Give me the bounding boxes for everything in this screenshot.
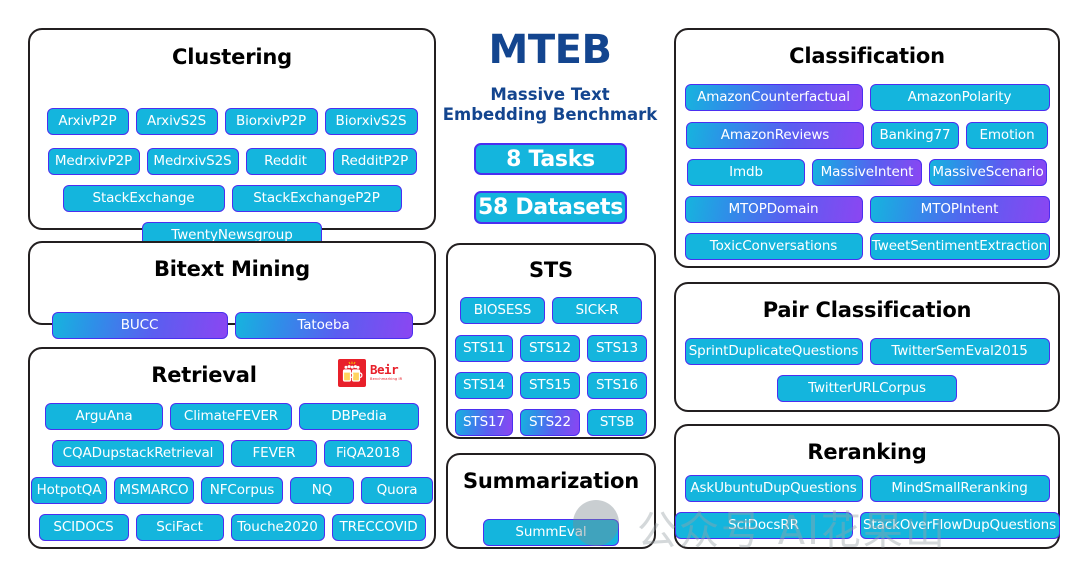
dataset-tile-label: BIOSESS bbox=[474, 304, 531, 318]
dataset-tile-label: Banking77 bbox=[879, 129, 950, 143]
dataset-tile[interactable]: Touche2020 bbox=[231, 514, 325, 541]
panel-reranking: Reranking AskUbuntuDupQuestionsMindSmall… bbox=[674, 424, 1060, 549]
dataset-tile-label: STS12 bbox=[529, 342, 571, 356]
dataset-tile[interactable]: BUCC bbox=[52, 312, 228, 339]
tile-row: STS17STS22STSB bbox=[448, 409, 654, 436]
dataset-tile[interactable]: MSMARCO bbox=[114, 477, 194, 504]
dataset-tile[interactable]: StackExchange bbox=[63, 185, 225, 212]
dataset-tile[interactable]: BiorxivP2P bbox=[225, 108, 318, 135]
tile-row: STS14STS15STS16 bbox=[448, 372, 654, 399]
dataset-tile[interactable]: SICK-R bbox=[552, 297, 642, 324]
tile-row: StackExchangeStackExchangeP2P bbox=[30, 185, 434, 212]
dataset-tile-label: NFCorpus bbox=[210, 484, 274, 498]
dataset-tile-label: ArxivP2P bbox=[58, 115, 116, 129]
dataset-tile[interactable]: AskUbuntuDupQuestions bbox=[685, 475, 863, 502]
tile-row: SummEval bbox=[448, 519, 654, 546]
beir-tagline: Benchmarking IR bbox=[370, 378, 402, 382]
dataset-tile-label: TwitterSemEval2015 bbox=[891, 345, 1027, 359]
dataset-tile-label: DBPedia bbox=[331, 410, 387, 424]
dataset-tile-label: STS11 bbox=[463, 342, 505, 356]
tile-row: BIOSESSSICK-R bbox=[448, 297, 654, 324]
dataset-tile[interactable]: STS12 bbox=[520, 335, 580, 362]
dataset-tile-label: STS22 bbox=[529, 416, 571, 430]
dataset-tile-label: ToxicConversations bbox=[710, 240, 837, 254]
dataset-tile-label: Quora bbox=[377, 484, 418, 498]
dataset-tile[interactable]: MindSmallReranking bbox=[870, 475, 1050, 502]
dataset-tile[interactable]: Reddit bbox=[246, 148, 326, 175]
dataset-tile-label: STS16 bbox=[596, 379, 638, 393]
dataset-tile[interactable]: Imdb bbox=[687, 159, 805, 186]
dataset-tile[interactable]: STSB bbox=[587, 409, 647, 436]
panel-title-reranking: Reranking bbox=[676, 442, 1058, 463]
panel-pair-classification: Pair Classification SprintDuplicateQuest… bbox=[674, 282, 1060, 412]
panel-title-sts: STS bbox=[448, 260, 654, 281]
dataset-tile-label: STS17 bbox=[463, 416, 505, 430]
dataset-tile-label: AmazonReviews bbox=[721, 129, 829, 143]
dataset-tile[interactable]: SummEval bbox=[483, 519, 619, 546]
dataset-tile-label: StackExchangeP2P bbox=[253, 192, 380, 206]
dataset-tile[interactable]: STS22 bbox=[520, 409, 580, 436]
dataset-tile-label: Imdb bbox=[729, 166, 763, 180]
dataset-tile-label: AmazonCounterfactual bbox=[697, 91, 850, 105]
dataset-tile-label: StackExchange bbox=[92, 192, 194, 206]
dataset-tile-label: FEVER bbox=[253, 447, 296, 461]
dataset-tile[interactable]: SciFact bbox=[136, 514, 224, 541]
panel-sts: STS BIOSESSSICK-RSTS11STS12STS13STS14STS… bbox=[446, 243, 656, 439]
dataset-tile[interactable]: FiQA2018 bbox=[324, 440, 412, 467]
dataset-tile-label: MedrxivS2S bbox=[153, 155, 231, 169]
dataset-tile[interactable]: TweetSentimentExtraction bbox=[870, 233, 1050, 260]
dataset-tile[interactable]: STS14 bbox=[455, 372, 513, 399]
panel-bitext-mining: Bitext Mining BUCCTatoeba bbox=[28, 241, 436, 325]
dataset-tile-label: TweetSentimentExtraction bbox=[872, 240, 1047, 254]
dataset-tile-label: BiorxivS2S bbox=[336, 115, 407, 129]
dataset-tile-label: STS15 bbox=[529, 379, 571, 393]
dataset-tile[interactable]: ArguAna bbox=[45, 403, 163, 430]
dataset-tile-label: MTOPIntent bbox=[921, 203, 999, 217]
dataset-tile[interactable]: NQ bbox=[290, 477, 354, 504]
dataset-tile[interactable]: Banking77 bbox=[871, 122, 959, 149]
dataset-tile-label: Touche2020 bbox=[237, 521, 317, 535]
dataset-tile[interactable]: RedditP2P bbox=[333, 148, 417, 175]
dataset-tile[interactable]: STS17 bbox=[455, 409, 513, 436]
page-subtitle-line2: Embedding Benchmark bbox=[435, 105, 665, 126]
dataset-tile[interactable]: MassiveIntent bbox=[812, 159, 922, 186]
dataset-tile[interactable]: MTOPDomain bbox=[685, 196, 863, 223]
dataset-tile[interactable]: AmazonCounterfactual bbox=[685, 84, 863, 111]
dataset-tile-label: SciDocsRR bbox=[728, 519, 799, 533]
tile-row: ToxicConversationsTweetSentimentExtracti… bbox=[676, 233, 1058, 260]
panel-title-summarization: Summarization bbox=[448, 471, 654, 492]
dataset-tile[interactable]: NFCorpus bbox=[201, 477, 283, 504]
dataset-tile-label: Reddit bbox=[264, 155, 307, 169]
dataset-tile[interactable]: ToxicConversations bbox=[685, 233, 863, 260]
dataset-tile-label: TwitterURLCorpus bbox=[808, 382, 926, 396]
dataset-tile[interactable]: MedrxivS2S bbox=[147, 148, 239, 175]
dataset-tile[interactable]: ArxivP2P bbox=[47, 108, 129, 135]
tile-row: SciDocsRRStackOverFlowDupQuestions bbox=[676, 512, 1058, 539]
panel-retrieval: Retrieval bbox=[28, 347, 436, 549]
dataset-tile[interactable]: AmazonReviews bbox=[686, 122, 864, 149]
dataset-tile[interactable]: StackOverFlowDupQuestions bbox=[860, 512, 1060, 539]
page-subtitle-line1: Massive Text bbox=[435, 85, 665, 106]
dataset-tile-label: RedditP2P bbox=[341, 155, 408, 169]
tile-row: MedrxivP2PMedrxivS2SRedditRedditP2P bbox=[30, 148, 434, 175]
tile-row: STS11STS12STS13 bbox=[448, 335, 654, 362]
dataset-tile[interactable]: TwitterSemEval2015 bbox=[870, 338, 1050, 365]
dataset-tile-label: MSMARCO bbox=[119, 484, 188, 498]
panel-summarization: Summarization SummEval bbox=[446, 453, 656, 549]
tile-row: ImdbMassiveIntentMassiveScenario bbox=[676, 159, 1058, 186]
panel-title-classification: Classification bbox=[676, 46, 1058, 67]
dataset-tile-label: MTOPDomain bbox=[728, 203, 818, 217]
panel-classification: Classification AmazonCounterfactualAmazo… bbox=[674, 28, 1060, 268]
beir-name: Beir bbox=[370, 364, 402, 377]
tile-row: HotpotQAMSMARCONFCorpusNQQuora bbox=[30, 477, 434, 504]
dataset-tile[interactable]: SCIDOCS bbox=[39, 514, 129, 541]
dataset-tile-label: ArxivS2S bbox=[147, 115, 206, 129]
dataset-tile-label: FiQA2018 bbox=[336, 447, 400, 461]
tile-row: AmazonReviewsBanking77Emotion bbox=[676, 122, 1058, 149]
dataset-tile-label: SciFact bbox=[156, 521, 203, 535]
dataset-tile[interactable]: STS15 bbox=[520, 372, 580, 399]
panel-title-clustering: Clustering bbox=[30, 47, 434, 68]
beir-wordmark: Beir Benchmarking IR bbox=[370, 364, 402, 382]
dataset-tile[interactable]: MedrxivP2P bbox=[48, 148, 140, 175]
dataset-tile[interactable]: Emotion bbox=[966, 122, 1048, 149]
dataset-tile-label: SprintDuplicateQuestions bbox=[689, 345, 859, 359]
tile-row: BUCCTatoeba bbox=[30, 312, 434, 339]
dataset-tile[interactable]: SprintDuplicateQuestions bbox=[685, 338, 863, 365]
tile-row: ArxivP2PArxivS2SBiorxivP2PBiorxivS2S bbox=[30, 108, 434, 135]
dataset-tile-label: MassiveIntent bbox=[821, 166, 914, 180]
stat-datasets-pill: 58 Datasets bbox=[474, 191, 627, 224]
dataset-tile[interactable]: DBPedia bbox=[299, 403, 419, 430]
dataset-tile[interactable]: HotpotQA bbox=[31, 477, 107, 504]
dataset-tile[interactable]: Quora bbox=[361, 477, 433, 504]
panel-title-pair-classification: Pair Classification bbox=[676, 300, 1058, 321]
panel-clustering: Clustering ArxivP2PArxivS2SBiorxivP2PBio… bbox=[28, 28, 436, 230]
tile-row: AskUbuntuDupQuestionsMindSmallReranking bbox=[676, 475, 1058, 502]
dataset-tile-label: ArguAna bbox=[75, 410, 132, 424]
dataset-tile[interactable]: StackExchangeP2P bbox=[232, 185, 402, 212]
dataset-tile-label: StackOverFlowDupQuestions bbox=[863, 519, 1056, 533]
dataset-tile-label: AmazonPolarity bbox=[908, 91, 1012, 105]
dataset-tile-label: TRECCOVID bbox=[339, 521, 417, 535]
dataset-tile[interactable]: BIOSESS bbox=[460, 297, 545, 324]
dataset-tile-label: STSB bbox=[600, 416, 634, 430]
dataset-tile[interactable]: STS13 bbox=[587, 335, 647, 362]
beir-beer-mugs-icon bbox=[338, 359, 366, 387]
tile-row: SprintDuplicateQuestionsTwitterSemEval20… bbox=[676, 338, 1058, 365]
dataset-tile-label: Emotion bbox=[979, 129, 1034, 143]
dataset-tile[interactable]: BiorxivS2S bbox=[325, 108, 418, 135]
dataset-tile[interactable]: ArxivS2S bbox=[136, 108, 218, 135]
dataset-tile-label: BiorxivP2P bbox=[236, 115, 306, 129]
dataset-tile[interactable]: SciDocsRR bbox=[675, 512, 853, 539]
dataset-tile-label: HotpotQA bbox=[37, 484, 102, 498]
dataset-tile-label: MindSmallReranking bbox=[891, 482, 1027, 496]
panel-title-bitext-mining: Bitext Mining bbox=[30, 259, 434, 280]
dataset-tile-label: STS14 bbox=[463, 379, 505, 393]
dataset-tile[interactable]: FEVER bbox=[231, 440, 317, 467]
dataset-tile[interactable]: MassiveScenario bbox=[929, 159, 1047, 186]
dataset-tile-label: SummEval bbox=[515, 526, 586, 540]
dataset-tile[interactable]: AmazonPolarity bbox=[870, 84, 1050, 111]
dataset-tile[interactable]: STS11 bbox=[455, 335, 513, 362]
page-title: MTEB bbox=[435, 30, 665, 70]
dataset-tile[interactable]: MTOPIntent bbox=[870, 196, 1050, 223]
dataset-tile[interactable]: TwitterURLCorpus bbox=[777, 375, 957, 402]
tile-row: ArguAnaClimateFEVERDBPedia bbox=[30, 403, 434, 430]
dataset-tile[interactable]: Tatoeba bbox=[235, 312, 413, 339]
dataset-tile-label: STS13 bbox=[596, 342, 638, 356]
dataset-tile-label: MassiveScenario bbox=[932, 166, 1043, 180]
dataset-tile-label: CQADupstackRetrieval bbox=[63, 447, 214, 461]
tile-row: SCIDOCSSciFactTouche2020TRECCOVID bbox=[30, 514, 434, 541]
beir-logo: Beir Benchmarking IR bbox=[338, 359, 402, 387]
dataset-tile[interactable]: ClimateFEVER bbox=[170, 403, 292, 430]
dataset-tile-label: Tatoeba bbox=[297, 319, 349, 333]
dataset-tile-label: SCIDOCS bbox=[53, 521, 113, 535]
dataset-tile[interactable]: CQADupstackRetrieval bbox=[52, 440, 224, 467]
dataset-tile-label: NQ bbox=[312, 484, 333, 498]
tile-row: AmazonCounterfactualAmazonPolarity bbox=[676, 84, 1058, 111]
dataset-tile-label: ClimateFEVER bbox=[184, 410, 278, 424]
dataset-tile-label: MedrxivP2P bbox=[55, 155, 132, 169]
dataset-tile[interactable]: STS16 bbox=[587, 372, 647, 399]
stat-tasks-pill: 8 Tasks bbox=[474, 143, 627, 175]
dataset-tile[interactable]: TRECCOVID bbox=[332, 514, 426, 541]
dataset-tile-label: BUCC bbox=[121, 319, 159, 333]
tile-row: MTOPDomainMTOPIntent bbox=[676, 196, 1058, 223]
tile-row: CQADupstackRetrievalFEVERFiQA2018 bbox=[30, 440, 434, 467]
tile-row: TwitterURLCorpus bbox=[676, 375, 1058, 402]
dataset-tile-label: AskUbuntuDupQuestions bbox=[690, 482, 856, 496]
dataset-tile-label: SICK-R bbox=[575, 304, 618, 318]
